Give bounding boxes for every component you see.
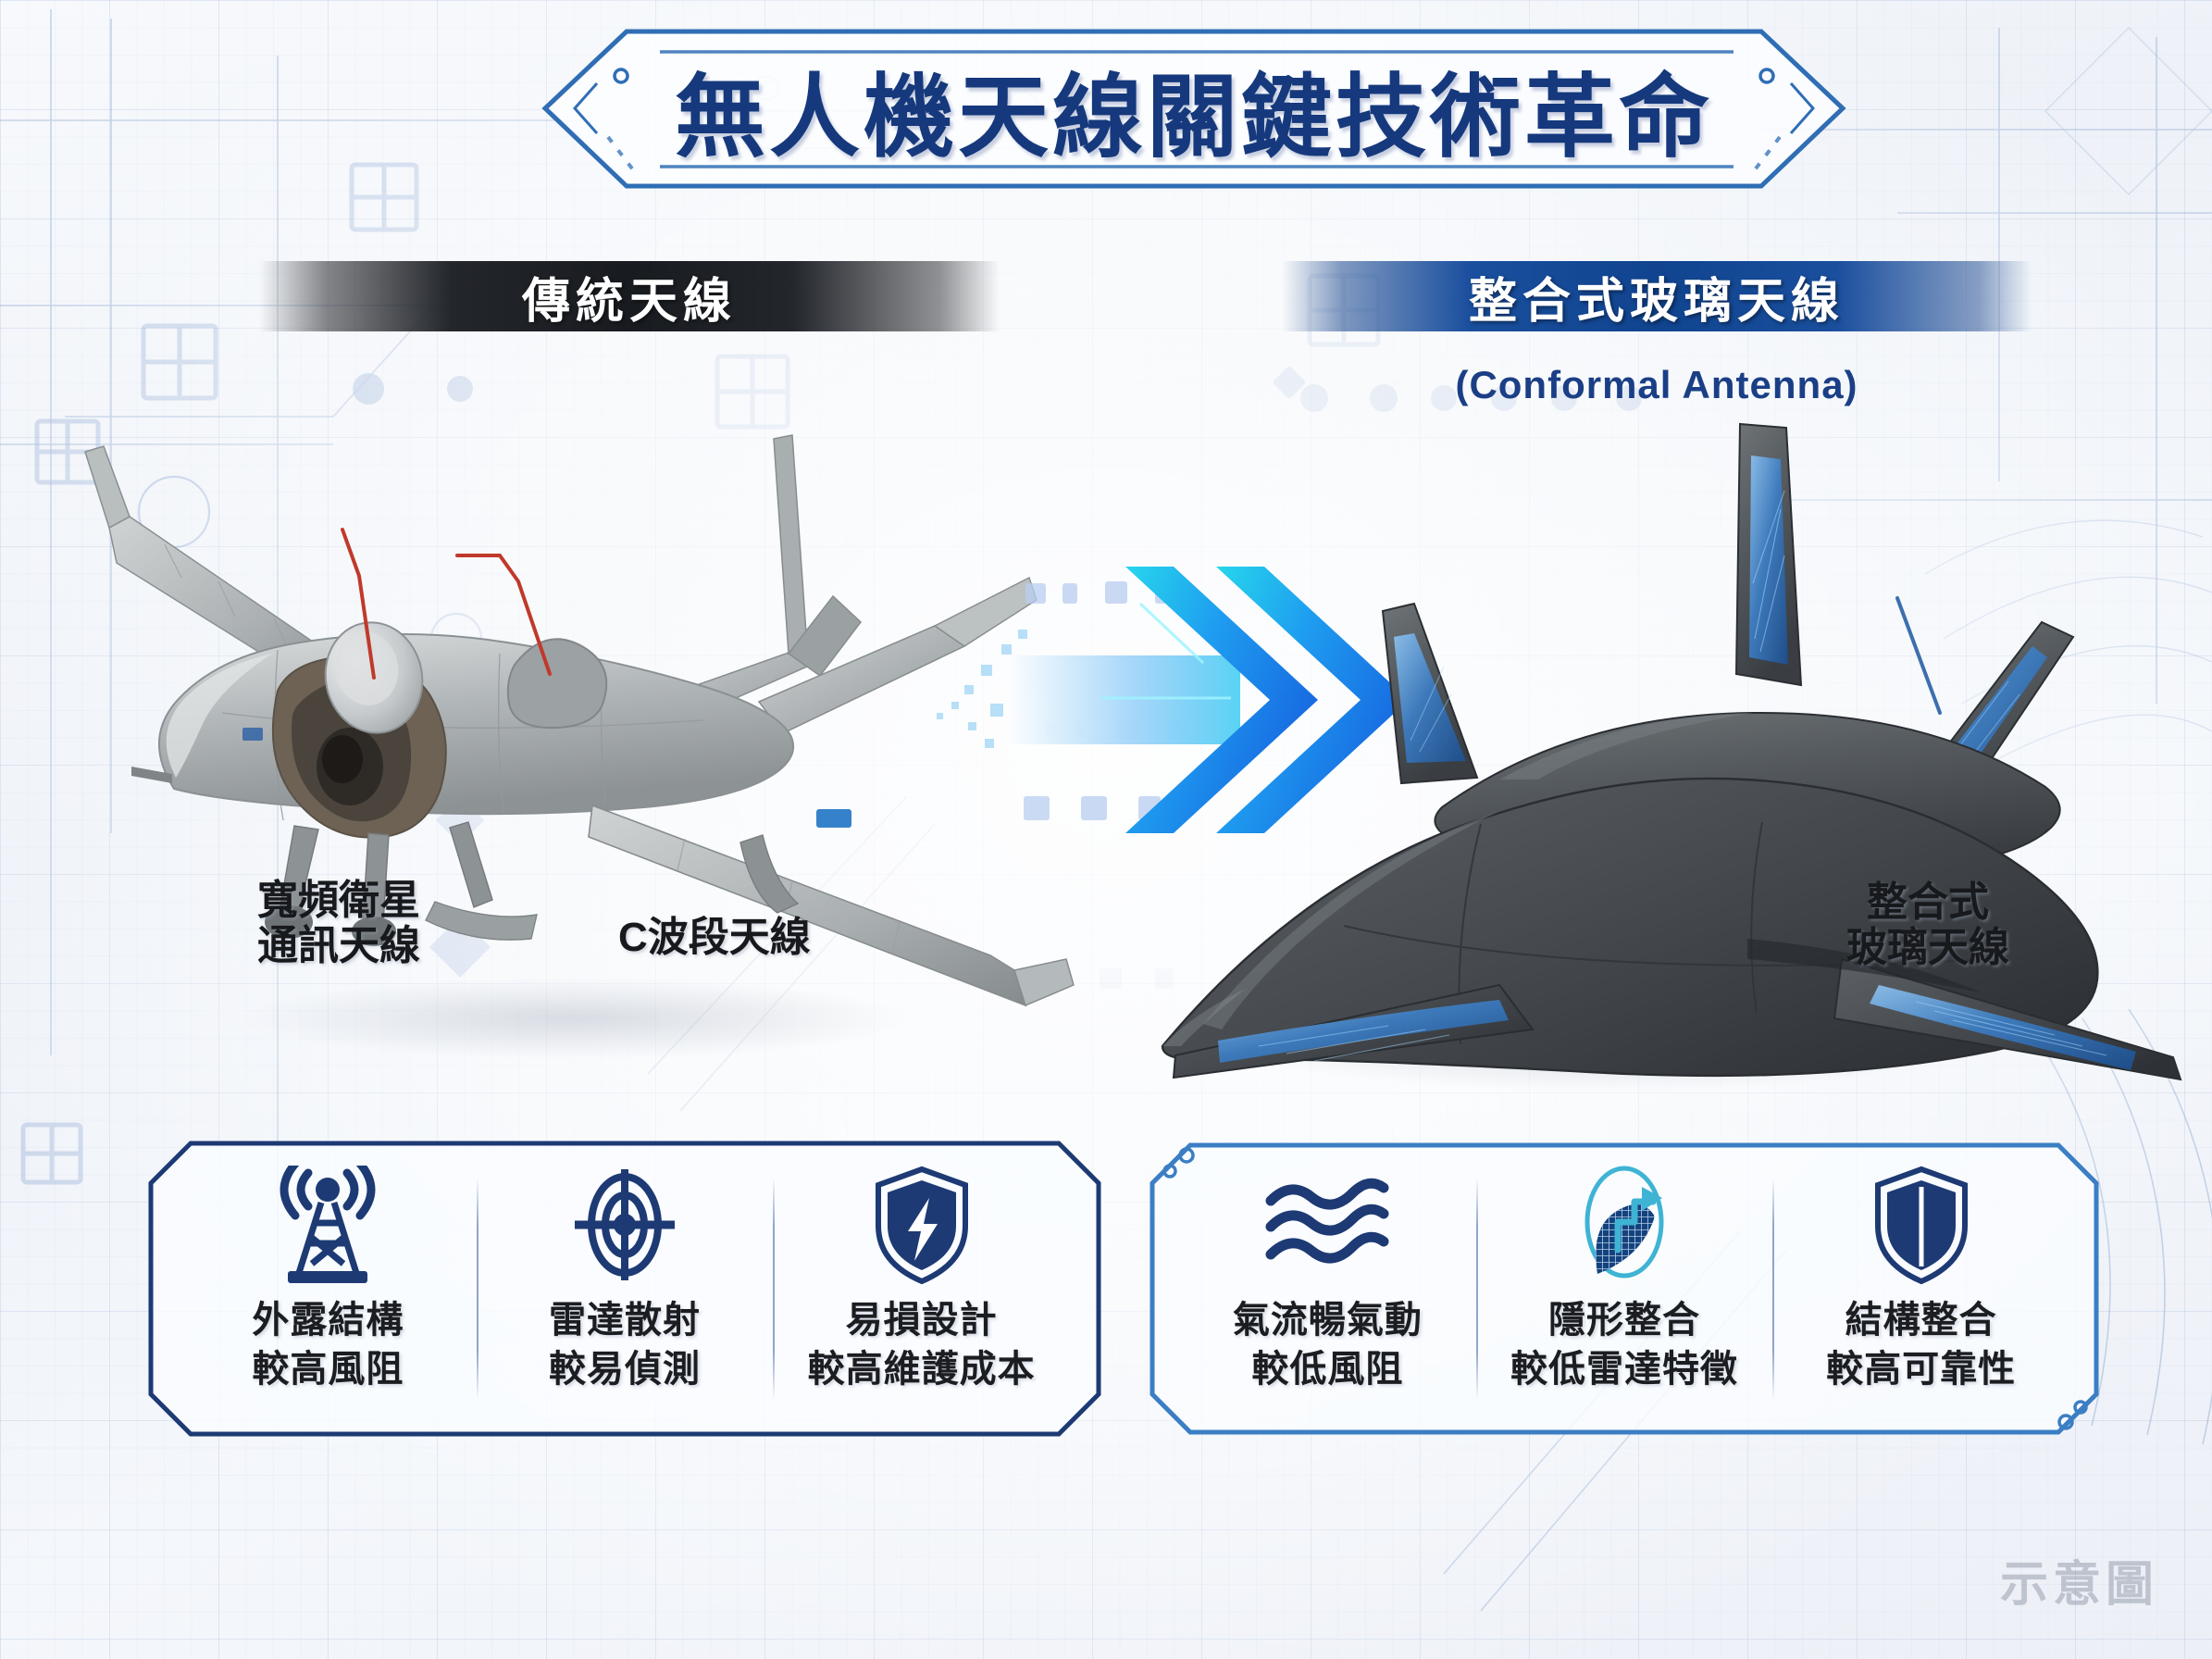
- feature-label-line1: 氣流暢氣動: [1233, 1296, 1423, 1345]
- feature-label: 雷達散射 較易偵測: [549, 1296, 701, 1394]
- feature-label-line1: 外露結構: [252, 1296, 404, 1345]
- title-banner: 無人機天線關鍵技術革命: [541, 28, 1846, 190]
- feature-item: 結構整合 較高可靠性: [1772, 1165, 2069, 1415]
- feature-label-line2: 較高維護成本: [808, 1345, 1036, 1394]
- traditional-drone-illustration: [85, 435, 1074, 1005]
- radar-crosshair-icon: [567, 1165, 682, 1285]
- feature-item: 易損設計 較高維護成本: [773, 1165, 1070, 1415]
- callout-conformal: 整合式 玻璃天線: [1846, 879, 2009, 971]
- feature-label: 外露結構 較高風阻: [252, 1296, 404, 1394]
- section-header-conformal-label: 整合式玻璃天線: [1282, 261, 2032, 331]
- feature-label: 隱形整合 較低雷達特徵: [1510, 1296, 1738, 1394]
- section-header-conformal-subtitle: (Conformal Antenna): [1282, 363, 2032, 407]
- callout-satcom-line1: 寬頻衛星: [257, 878, 420, 923]
- feature-item: 雷達散射 較易偵測: [477, 1165, 774, 1415]
- stealth-panel-icon: [1570, 1165, 1679, 1285]
- callout-conformal-line2: 玻璃天線: [1846, 925, 2009, 970]
- section-header-traditional: 傳統天線: [259, 261, 1000, 331]
- airflow-waves-icon: [1258, 1165, 1397, 1285]
- callout-conformal-line1: 整合式: [1867, 879, 1989, 925]
- feature-label-line1: 雷達散射: [549, 1296, 701, 1345]
- feature-label-line1: 隱形整合: [1510, 1296, 1738, 1345]
- feature-item: 外露結構 較高風阻: [180, 1165, 477, 1415]
- features-panel-traditional: 外露結構 較高風阻 雷達散射 較易偵測: [148, 1141, 1101, 1437]
- page-title: 無人機天線關鍵技術革命: [541, 28, 1846, 190]
- features-panel-conformal: 氣流暢氣動 較低風阻: [1148, 1141, 2101, 1437]
- comparison-stage: 寬頻衛星 通訊天線 C波段天線 整合式 玻璃天線: [0, 407, 2212, 1092]
- feature-label-line2: 較高風阻: [252, 1345, 404, 1394]
- section-header-traditional-label: 傳統天線: [259, 261, 1000, 331]
- feature-item: 隱形整合 較低雷達特徵: [1476, 1165, 1773, 1415]
- section-header-conformal: 整合式玻璃天線: [1282, 261, 2032, 331]
- feature-label-line1: 結構整合: [1826, 1296, 2016, 1345]
- feature-label: 結構整合 較高可靠性: [1826, 1296, 2016, 1394]
- callout-cband: C波段天線: [618, 915, 811, 960]
- watermark: 示意圖: [2000, 1545, 2158, 1615]
- antenna-tower-icon: [273, 1165, 382, 1285]
- callout-satcom: 寬頻衛星 通訊天線: [257, 878, 420, 969]
- feature-label: 易損設計 較高維護成本: [808, 1296, 1036, 1394]
- feature-label: 氣流暢氣動 較低風阻: [1233, 1296, 1423, 1394]
- stage-illustrations: [0, 407, 2212, 1092]
- shield-bolt-icon: [871, 1165, 973, 1285]
- feature-label-line2: 較低雷達特徵: [1510, 1345, 1738, 1394]
- feature-item: 氣流暢氣動 較低風阻: [1179, 1165, 1476, 1415]
- feature-label-line2: 較低風阻: [1233, 1345, 1423, 1394]
- feature-label-line2: 較高可靠性: [1826, 1345, 2016, 1394]
- shield-solid-icon: [1870, 1165, 1972, 1285]
- feature-label-line2: 較易偵測: [549, 1345, 701, 1394]
- conformal-leader-line: [1897, 598, 1940, 713]
- callout-satcom-line2: 通訊天線: [257, 923, 420, 968]
- feature-label-line1: 易損設計: [808, 1296, 1036, 1345]
